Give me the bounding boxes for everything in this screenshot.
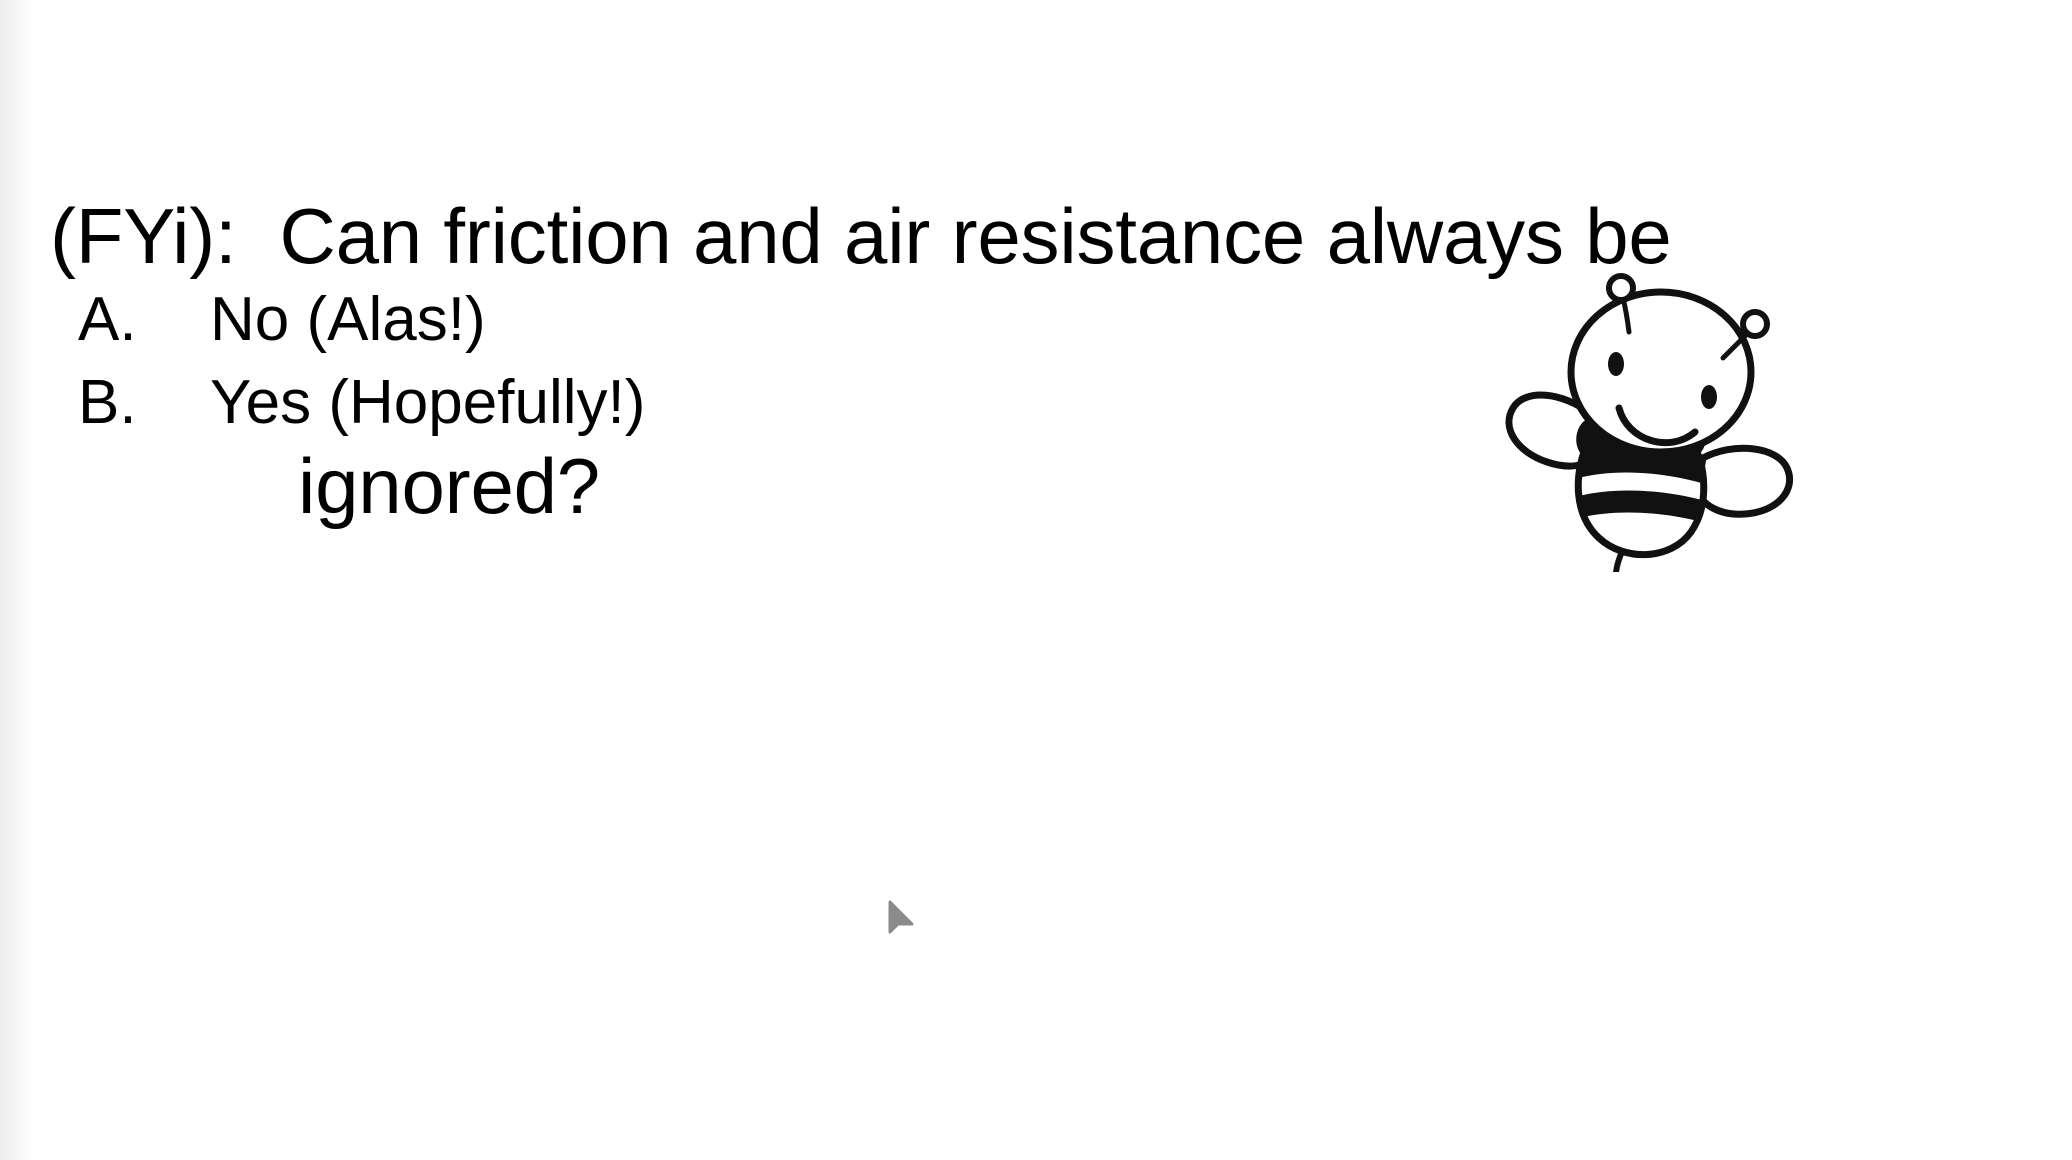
bee-left-antenna-tip [1609,276,1633,300]
bee-left-eye [1608,352,1624,376]
presentation-slide: (FYi): Can friction and air resistance a… [0,0,2072,1160]
bee-right-antenna-tip [1743,312,1767,336]
answer-options-list: A. No (Alas!) B. Yes (Hopefully!) [78,278,1278,444]
answer-option-b[interactable]: B. Yes (Hopefully!) [78,361,1278,444]
bee-illustration [1495,262,1815,572]
answer-option-b-label: Yes (Hopefully!) [210,361,645,444]
cursor-arrow-shape [890,902,912,932]
bee-icon [1495,262,1815,572]
answer-option-b-marker: B. [78,361,210,444]
answer-option-a-label: No (Alas!) [210,278,486,361]
slide-left-edge-shadow [0,0,34,1160]
bee-head [1571,292,1751,452]
bee-right-eye [1701,385,1717,409]
cursor-arrow [885,898,919,940]
bee-right-wing [1697,448,1790,514]
bee-stinger [1616,554,1621,572]
answer-option-a[interactable]: A. No (Alas!) [78,278,1278,361]
answer-option-a-marker: A. [78,278,210,361]
mouse-pointer-icon [885,898,919,940]
